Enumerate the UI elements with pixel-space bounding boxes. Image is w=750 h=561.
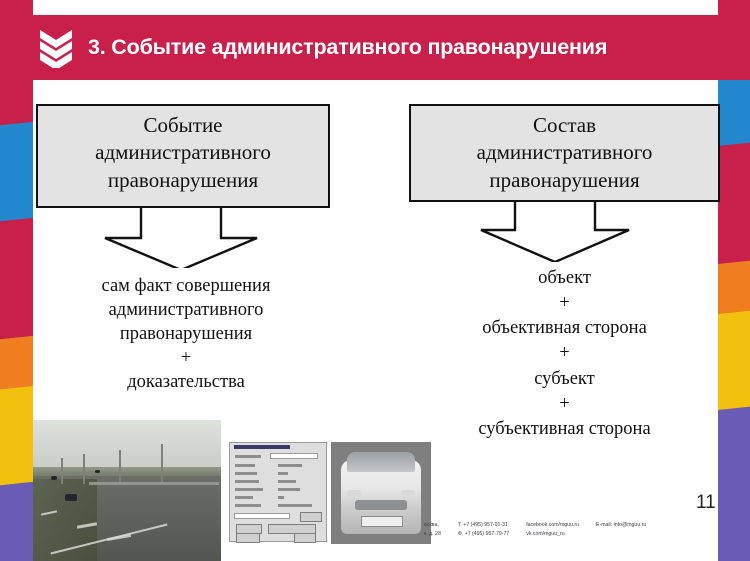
photo-pole bbox=[161, 444, 163, 484]
footer-vk-link[interactable]: vk.com/mguu_ru bbox=[526, 530, 579, 539]
footer-address-line-2: к, д. 28 bbox=[424, 530, 441, 539]
violation-software-screenshot bbox=[221, 420, 433, 561]
right-arrow-wrap bbox=[395, 202, 735, 264]
photo-pole bbox=[119, 450, 121, 484]
footer-social: facebook.com/mguu.ru vk.com/mguu_ru bbox=[526, 521, 579, 538]
right-terms-list: объект + объективная сторона + субъект +… bbox=[409, 266, 720, 442]
form-title-bar bbox=[234, 445, 290, 449]
footer-contact-info: осква, к, д. 28 Т. +7 (495) 957-91-31 Ф.… bbox=[424, 521, 646, 538]
vehicle-headlight bbox=[347, 490, 361, 497]
photo-vehicle bbox=[95, 470, 100, 473]
photo-vehicle bbox=[65, 494, 77, 501]
left-node-box: Событие административного правонарушения bbox=[36, 104, 330, 208]
right-plus-3: + bbox=[409, 392, 720, 417]
right-term-4: субъективная сторона bbox=[409, 417, 720, 442]
vehicle-license-plate bbox=[361, 516, 403, 527]
form-label bbox=[235, 504, 261, 507]
photo-strip bbox=[33, 420, 433, 561]
footer-email: E-mail: info@mguu.ru bbox=[596, 521, 646, 538]
highway-speed-camera-photo bbox=[33, 420, 221, 561]
form-label bbox=[235, 496, 253, 499]
right-box-line-1: Состав bbox=[419, 112, 710, 139]
footer-phones: Т. +7 (495) 957-91-31 Ф. +7 (495) 957-79… bbox=[458, 521, 509, 538]
photo-vehicle bbox=[51, 476, 57, 480]
right-down-arrow-icon bbox=[409, 202, 720, 262]
footer-phone-2: Ф. +7 (495) 957-79-77 bbox=[458, 530, 509, 539]
form-field bbox=[270, 453, 318, 459]
left-diagram-column: Событие административного правонарушения… bbox=[33, 104, 363, 394]
form-value bbox=[278, 504, 312, 507]
form-value bbox=[278, 488, 300, 491]
form-dropdown[interactable] bbox=[234, 513, 290, 519]
left-terms-list: сам факт совершения административного пр… bbox=[36, 274, 336, 394]
vehicle-grille bbox=[355, 500, 407, 510]
right-box-line-2: административного bbox=[419, 139, 710, 166]
form-button[interactable] bbox=[236, 533, 260, 543]
vehicle-headlight bbox=[401, 490, 415, 497]
left-box-line-1: Событие bbox=[46, 112, 320, 139]
left-plus-1: + bbox=[36, 346, 336, 370]
left-box-line-3: правонарушения bbox=[46, 167, 320, 194]
form-label bbox=[235, 488, 263, 491]
footer-email-address[interactable]: E-mail: info@mguu.ru bbox=[596, 521, 646, 530]
footer-facebook-link[interactable]: facebook.com/mguu.ru bbox=[526, 521, 579, 530]
slide-header-band: 3. Событие административного правонаруше… bbox=[0, 15, 750, 80]
right-term-3: субъект bbox=[409, 367, 720, 392]
software-form-panel bbox=[229, 442, 327, 542]
left-term-2: административного bbox=[36, 298, 336, 322]
right-term-2: объективная сторона bbox=[409, 316, 720, 341]
slide-canvas: 3. Событие административного правонаруше… bbox=[0, 0, 750, 561]
left-term-4: доказательства bbox=[36, 370, 336, 394]
right-box-line-3: правонарушения bbox=[419, 167, 710, 194]
right-plus-2: + bbox=[409, 341, 720, 366]
form-label bbox=[235, 472, 257, 475]
footer-phone-1: Т. +7 (495) 957-91-31 bbox=[458, 521, 509, 530]
page-number: 11 bbox=[696, 492, 716, 514]
photo-barrier bbox=[89, 482, 219, 485]
left-term-3: правонарушения bbox=[36, 322, 336, 346]
footer-address: осква, к, д. 28 bbox=[424, 521, 441, 538]
form-button[interactable] bbox=[300, 512, 322, 522]
right-term-1: объект bbox=[409, 266, 720, 291]
triple-chevron-down-icon bbox=[38, 28, 74, 68]
right-node-box: Состав административного правонарушения bbox=[409, 104, 720, 202]
photo-pole bbox=[83, 454, 85, 484]
form-label bbox=[235, 464, 255, 467]
vehicle-windshield bbox=[347, 452, 415, 472]
header-inner: 3. Событие административного правонаруше… bbox=[38, 28, 607, 68]
form-value bbox=[278, 464, 302, 467]
left-box-line-2: административного bbox=[46, 139, 320, 166]
footer-address-line-1: осква, bbox=[424, 521, 441, 530]
page-title: 3. Событие административного правонаруше… bbox=[88, 35, 607, 60]
form-value bbox=[278, 472, 288, 475]
left-arrow-wrap bbox=[33, 208, 363, 270]
form-button[interactable] bbox=[294, 533, 316, 543]
captured-vehicle-image bbox=[329, 440, 433, 546]
photo-pole bbox=[61, 458, 63, 484]
form-label bbox=[235, 455, 261, 458]
right-diagram-column: Состав административного правонарушения … bbox=[395, 104, 735, 442]
left-down-arrow-icon bbox=[33, 208, 333, 268]
form-value bbox=[278, 480, 296, 483]
form-label bbox=[235, 480, 259, 483]
form-value bbox=[278, 496, 284, 499]
left-term-1: сам факт совершения bbox=[36, 274, 336, 298]
right-plus-1: + bbox=[409, 291, 720, 316]
